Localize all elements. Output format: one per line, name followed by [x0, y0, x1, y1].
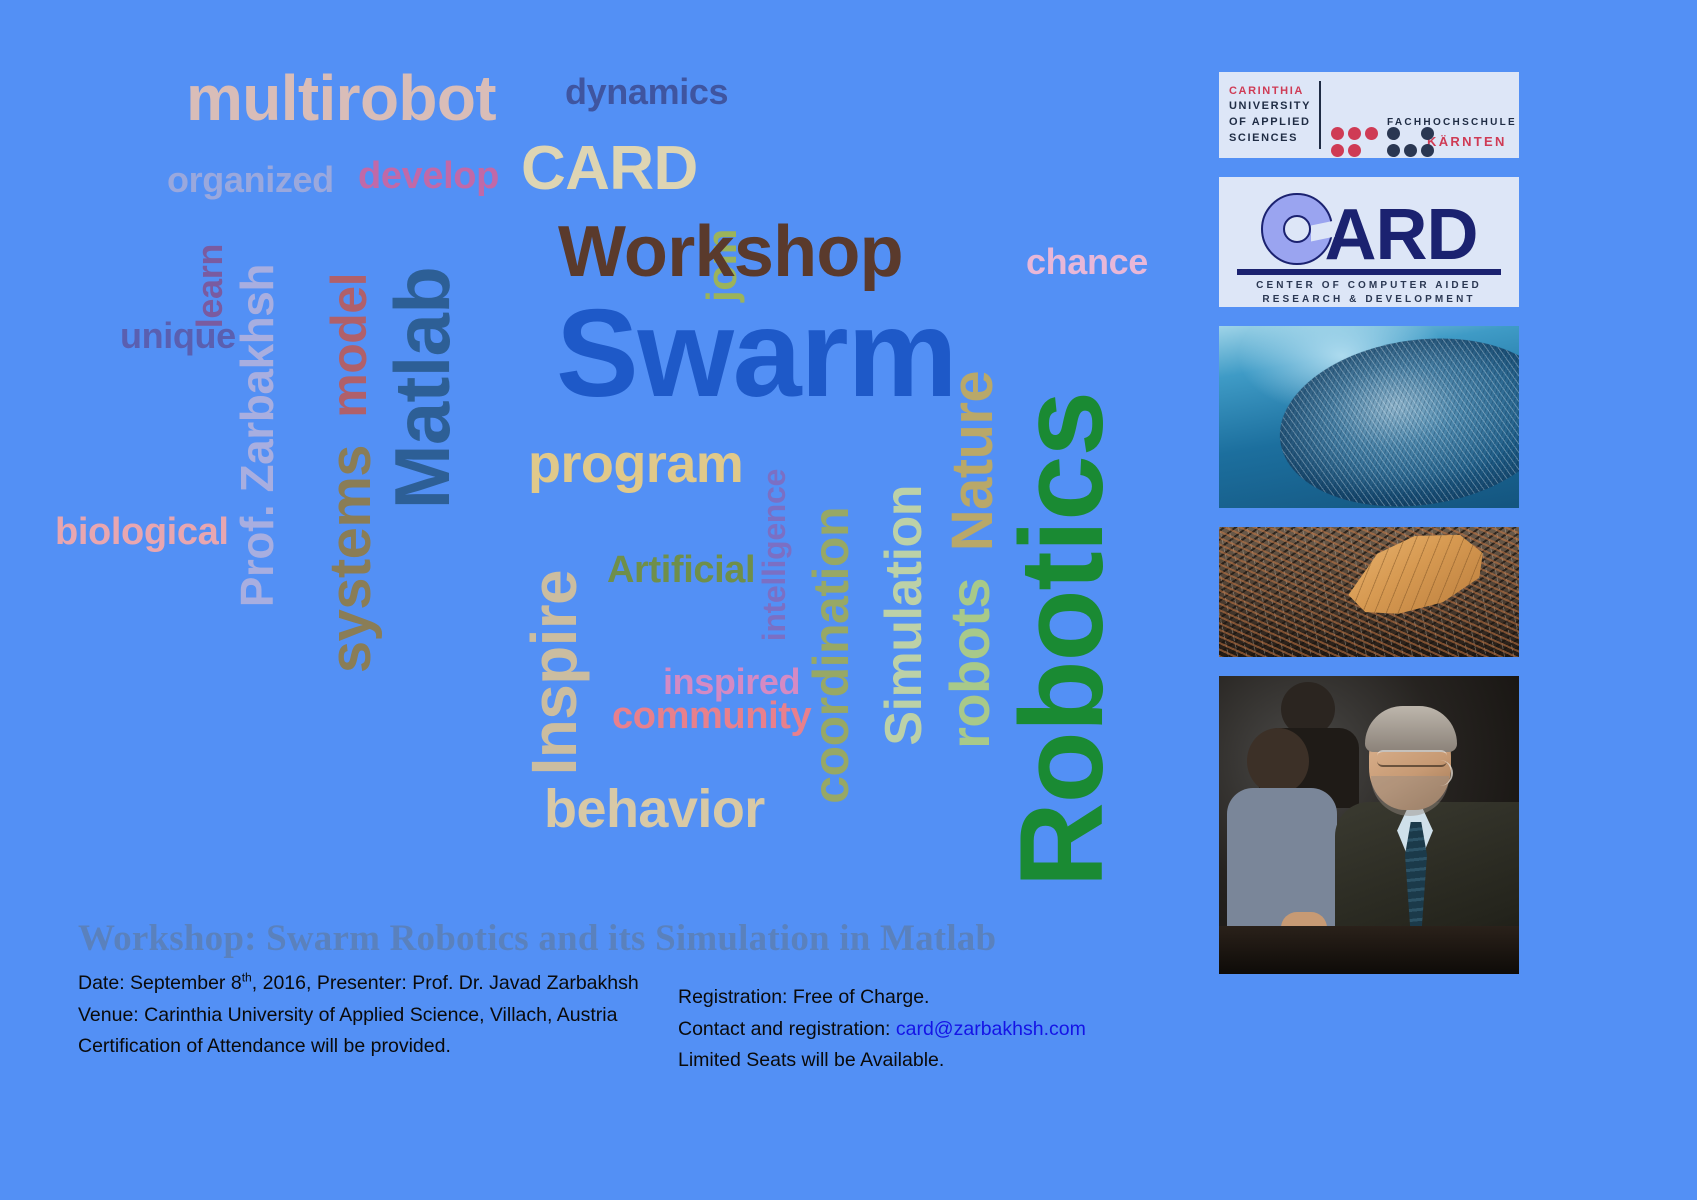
kaernten-label: KÄRNTEN — [1427, 134, 1507, 149]
fachhochschule-label: FACHHOCHSCHULE — [1387, 117, 1517, 128]
card-tagline: CENTER OF COMPUTER AIDED RESEARCH & DEVE… — [1233, 279, 1505, 306]
contact-email-link[interactable]: card@zarbakhsh.com — [896, 1018, 1086, 1040]
cloud-word-inspire: Inspire — [530, 570, 580, 775]
cloud-word-biological: biological — [55, 518, 229, 548]
contact-label: Contact and registration: — [678, 1018, 896, 1040]
registration-seats-line: Limited Seats will be Available. — [678, 1045, 1086, 1077]
card-wordmark: ARD — [1233, 187, 1505, 265]
cloud-word-dynamics: dynamics — [565, 78, 728, 106]
cuas-line-ofapplied: OF APPLIED — [1229, 115, 1311, 131]
cloud-word-multirobot: multirobot — [186, 74, 496, 124]
speaker-photo — [1219, 676, 1519, 974]
card-tagline-line2: RESEARCH & DEVELOPMENT — [1233, 293, 1505, 307]
card-letter-c-icon — [1261, 193, 1333, 265]
cuas-logo: CARINTHIA UNIVERSITY OF APPLIED SCIENCES… — [1219, 72, 1519, 158]
event-date-ordinal: th — [242, 971, 252, 985]
poster-canvas: multirobot dynamics join CARD Nature org… — [0, 0, 1697, 1200]
word-cloud: multirobot dynamics join CARD Nature org… — [0, 0, 1200, 900]
cloud-word-develop: develop — [358, 162, 499, 192]
cloud-word-robots: robots — [948, 578, 992, 749]
cuas-line-carinthia: CARINTHIA — [1229, 84, 1311, 100]
cloud-word-artificial: Artificial — [607, 556, 755, 586]
cloud-word-chance: chance — [1026, 248, 1148, 276]
cloud-word-program: program — [528, 443, 743, 485]
registration-contact-line: Contact and registration: card@zarbakhsh… — [678, 1014, 1086, 1046]
event-details-left: Date: September 8th, 2016, Presenter: Pr… — [78, 968, 639, 1063]
fish-school-photo — [1219, 326, 1519, 508]
card-logo: ARD CENTER OF COMPUTER AIDED RESEARCH & … — [1219, 177, 1519, 307]
event-date-line: Date: September 8th, 2016, Presenter: Pr… — [78, 968, 639, 1000]
cloud-word-card: CARD — [521, 145, 698, 193]
cuas-divider — [1319, 81, 1321, 149]
cuas-line-sciences: SCIENCES — [1229, 131, 1311, 147]
cloud-word-simulation: Simulation — [884, 485, 925, 746]
card-tagline-line1: CENTER OF COMPUTER AIDED — [1233, 279, 1505, 293]
cloud-word-community: community — [612, 702, 811, 732]
cloud-word-prof-zarbakhsh: Prof. Zarbakhsh — [240, 264, 276, 607]
cuas-line-university: UNIVERSITY — [1229, 99, 1311, 115]
card-letters-ard: ARD — [1325, 206, 1478, 265]
cuas-wordmark: CARINTHIA UNIVERSITY OF APPLIED SCIENCES — [1229, 84, 1311, 146]
poster-subtitle: Workshop: Swarm Robotics and its Simulat… — [78, 917, 996, 960]
ants-photo — [1219, 527, 1519, 657]
event-venue-line: Venue: Carinthia University of Applied S… — [78, 1000, 639, 1032]
cloud-word-model: model — [330, 273, 369, 418]
cloud-word-matlab: Matlab — [392, 267, 453, 509]
cloud-word-swarm: Swarm — [556, 306, 956, 403]
cloud-word-systems: systems — [328, 445, 373, 673]
cloud-word-coordination: coordination — [812, 507, 851, 804]
registration-fee-line: Registration: Free of Charge. — [678, 982, 1086, 1014]
event-date-suffix: , 2016, Presenter: Prof. Dr. Javad Zarba… — [252, 972, 639, 994]
cloud-word-behavior: behavior — [544, 788, 765, 830]
cloud-word-organized: organized — [167, 166, 334, 194]
cloud-word-intelligence: intelligence — [762, 469, 787, 641]
cloud-word-robotics: Robotics — [1016, 392, 1108, 887]
registration-details-right: Registration: Free of Charge. Contact an… — [678, 982, 1086, 1077]
cloud-word-unique: unique — [120, 322, 236, 350]
cloud-word-workshop: Workshop — [558, 224, 903, 280]
media-rail: CARINTHIA UNIVERSITY OF APPLIED SCIENCES… — [1219, 72, 1519, 974]
event-date-prefix: Date: September 8 — [78, 972, 242, 994]
cloud-word-nature: Nature — [950, 371, 995, 551]
cloud-word-inspired: inspired — [663, 668, 800, 696]
event-certification-line: Certification of Attendance will be prov… — [78, 1031, 639, 1063]
